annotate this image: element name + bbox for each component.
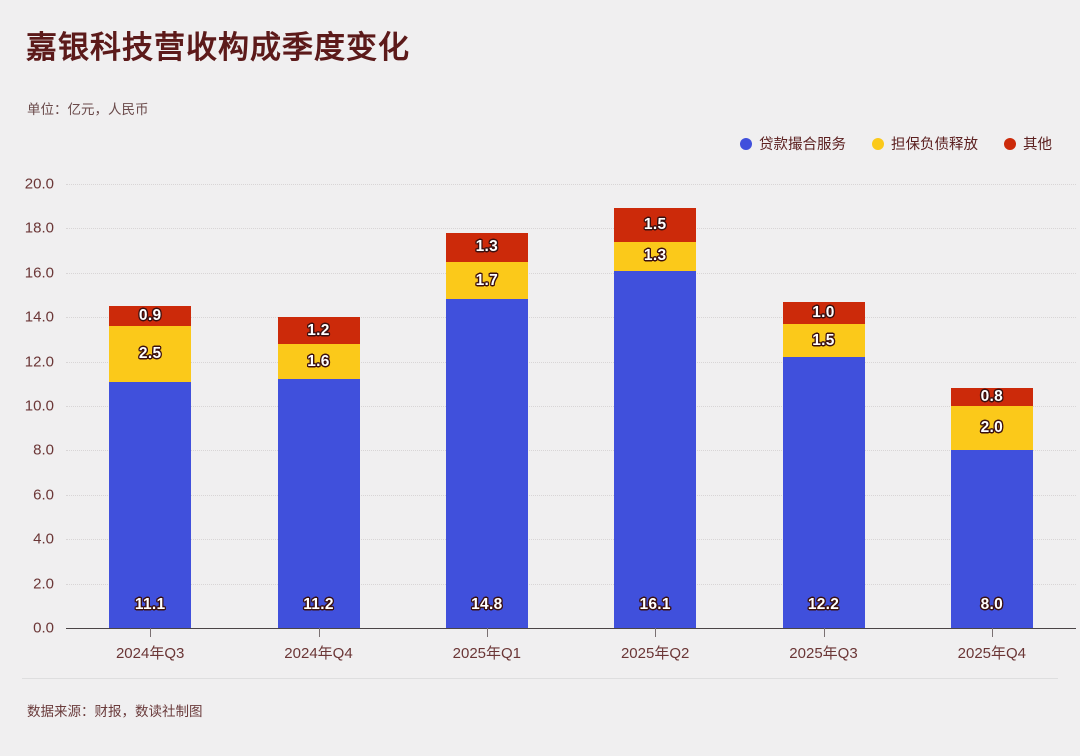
- x-tick-mark: [319, 628, 320, 637]
- y-tick-label: 4.0: [0, 531, 54, 548]
- bar-segment[interactable]: 12.2: [783, 357, 865, 628]
- x-tick-mark: [655, 628, 656, 637]
- bar-segment[interactable]: 1.3: [614, 242, 696, 271]
- x-axis-line: [66, 628, 1076, 629]
- bar-segment[interactable]: 1.6: [278, 344, 360, 380]
- legend-item-0[interactable]: 贷款撮合服务: [740, 133, 846, 154]
- legend-item-2[interactable]: 其他: [1004, 133, 1052, 154]
- y-tick-label: 10.0: [0, 398, 54, 415]
- bar-group[interactable]: 8.02.00.8: [951, 388, 1033, 628]
- bar-group[interactable]: 11.21.61.2: [278, 317, 360, 628]
- x-tick-mark: [150, 628, 151, 637]
- bar-value-label: 1.2: [307, 322, 329, 340]
- y-tick-label: 0.0: [0, 620, 54, 637]
- y-tick-label: 18.0: [0, 220, 54, 237]
- x-tick-label: 2025年Q3: [789, 642, 857, 663]
- legend-label: 其他: [1023, 133, 1052, 154]
- bar-segment[interactable]: 11.2: [278, 379, 360, 628]
- bar-value-label: 0.8: [981, 388, 1003, 406]
- legend-color-dot-icon: [872, 138, 884, 150]
- y-tick-label: 12.0: [0, 353, 54, 370]
- bar-value-label: 1.0: [812, 304, 834, 322]
- bar-value-label: 1.7: [476, 272, 498, 290]
- bar-segment[interactable]: 1.5: [614, 208, 696, 241]
- bar-group[interactable]: 12.21.51.0: [783, 302, 865, 628]
- x-tick-mark: [824, 628, 825, 637]
- bar-segment[interactable]: 11.1: [109, 382, 191, 628]
- bar-group[interactable]: 11.12.50.9: [109, 306, 191, 628]
- bar-segment[interactable]: 16.1: [614, 271, 696, 628]
- bar-group[interactable]: 16.11.31.5: [614, 208, 696, 628]
- legend-label: 贷款撮合服务: [759, 133, 846, 154]
- bar-segment[interactable]: 2.5: [109, 326, 191, 382]
- bar-segment[interactable]: 1.2: [278, 317, 360, 344]
- bar-segment[interactable]: 1.5: [783, 324, 865, 357]
- bar-value-label: 16.1: [639, 596, 670, 614]
- y-tick-label: 2.0: [0, 575, 54, 592]
- legend-color-dot-icon: [740, 138, 752, 150]
- y-tick-label: 14.0: [0, 309, 54, 326]
- legend-item-1[interactable]: 担保负债释放: [872, 133, 978, 154]
- x-tick-label: 2024年Q4: [284, 642, 352, 663]
- bar-segment[interactable]: 0.9: [109, 306, 191, 326]
- bar-group[interactable]: 14.81.71.3: [446, 233, 528, 628]
- bar-value-label: 2.0: [981, 419, 1003, 437]
- x-tick-label: 2025年Q4: [958, 642, 1026, 663]
- page-title: 嘉银科技营收构成季度变化: [26, 22, 410, 67]
- bar-value-label: 8.0: [981, 596, 1003, 614]
- x-tick-mark: [992, 628, 993, 637]
- bar-value-label: 1.5: [644, 216, 666, 234]
- bar-segment[interactable]: 1.7: [446, 262, 528, 300]
- x-tick-label: 2025年Q2: [621, 642, 689, 663]
- bar-value-label: 0.9: [139, 307, 161, 325]
- y-tick-label: 20.0: [0, 176, 54, 193]
- bar-value-label: 12.2: [808, 596, 839, 614]
- bar-segment[interactable]: 2.0: [951, 406, 1033, 450]
- bar-segment[interactable]: 14.8: [446, 299, 528, 628]
- x-tick-mark: [487, 628, 488, 637]
- bar-value-label: 1.6: [307, 353, 329, 371]
- chart-page: 嘉银科技营收构成季度变化 单位：亿元，人民币 贷款撮合服务担保负债释放其他 0.…: [0, 0, 1080, 756]
- chart-legend: 贷款撮合服务担保负债释放其他: [740, 133, 1052, 154]
- x-tick-label: 2025年Q1: [453, 642, 521, 663]
- bar-value-label: 2.5: [139, 345, 161, 363]
- bar-value-label: 11.1: [135, 596, 166, 614]
- legend-color-dot-icon: [1004, 138, 1016, 150]
- source-note: 数据来源：财报，数读社制图: [27, 700, 203, 720]
- unit-label: 单位：亿元，人民币: [27, 98, 149, 118]
- y-tick-label: 6.0: [0, 486, 54, 503]
- bar-value-label: 14.8: [471, 596, 502, 614]
- footer-divider: [22, 678, 1058, 679]
- bar-value-label: 1.3: [644, 247, 666, 265]
- legend-label: 担保负债释放: [891, 133, 978, 154]
- bar-segment[interactable]: 1.0: [783, 302, 865, 324]
- y-tick-label: 16.0: [0, 264, 54, 281]
- bar-value-label: 1.3: [476, 238, 498, 256]
- bar-segment[interactable]: 1.3: [446, 233, 528, 262]
- x-tick-label: 2024年Q3: [116, 642, 184, 663]
- bar-series-container: 11.12.50.911.21.61.214.81.71.316.11.31.5…: [66, 184, 1076, 628]
- y-tick-label: 8.0: [0, 442, 54, 459]
- bar-segment[interactable]: 8.0: [951, 450, 1033, 628]
- bar-value-label: 1.5: [812, 332, 834, 350]
- plot-area: 0.02.04.06.08.010.012.014.016.018.020.0 …: [66, 184, 1076, 628]
- bar-segment[interactable]: 0.8: [951, 388, 1033, 406]
- bar-value-label: 11.2: [303, 596, 334, 614]
